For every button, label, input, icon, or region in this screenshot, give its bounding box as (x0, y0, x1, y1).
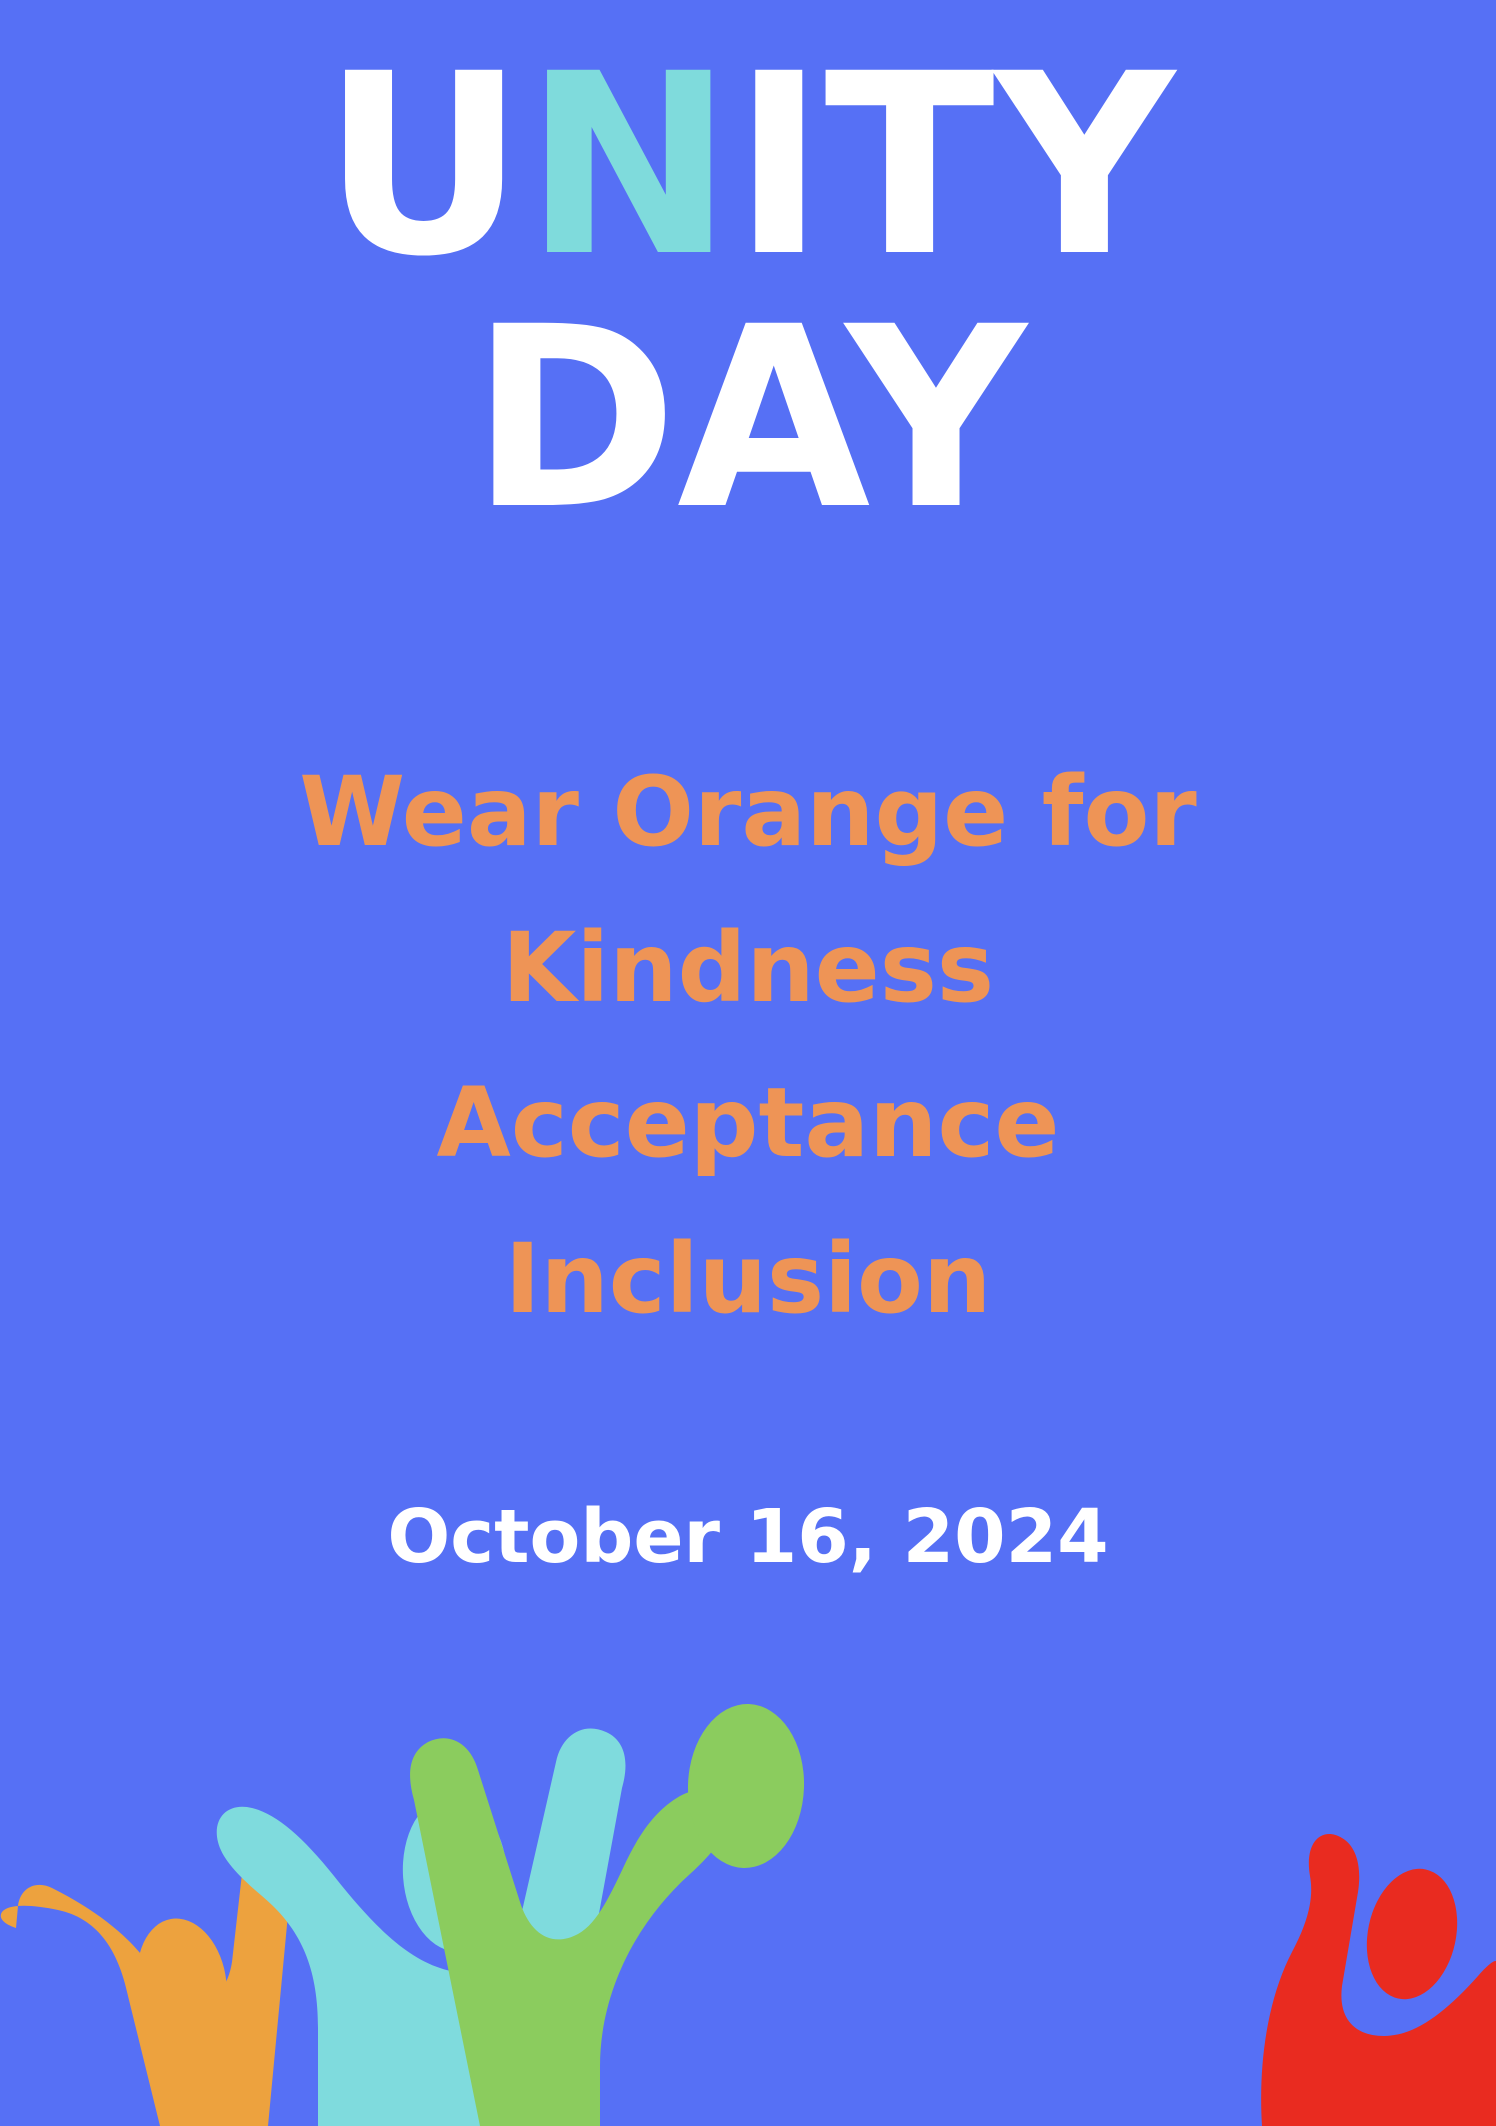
message-line-3: Acceptance (0, 1046, 1496, 1202)
message-line-2: Kindness (0, 891, 1496, 1047)
raised-hands-illustration (0, 1666, 1496, 2126)
title-letter-u: U (322, 20, 524, 311)
poster-message: Wear Orange for Kindness Acceptance Incl… (0, 735, 1496, 1357)
figure-red-head (1355, 1860, 1469, 2007)
message-line-4: Inclusion (0, 1202, 1496, 1358)
figure-red (1261, 1834, 1496, 2126)
poster-date: October 16, 2024 (0, 1497, 1496, 1578)
title-letters-ity: ITY (732, 20, 1174, 311)
title-line-day: DAY (0, 311, 1496, 526)
title-letter-n-accent: N (524, 20, 732, 311)
unity-day-poster: UNITY DAY Wear Orange for Kindness Accep… (0, 0, 1496, 2126)
poster-title: UNITY DAY (0, 58, 1496, 526)
message-line-1: Wear Orange for (0, 735, 1496, 891)
title-line-unity: UNITY (0, 58, 1496, 273)
